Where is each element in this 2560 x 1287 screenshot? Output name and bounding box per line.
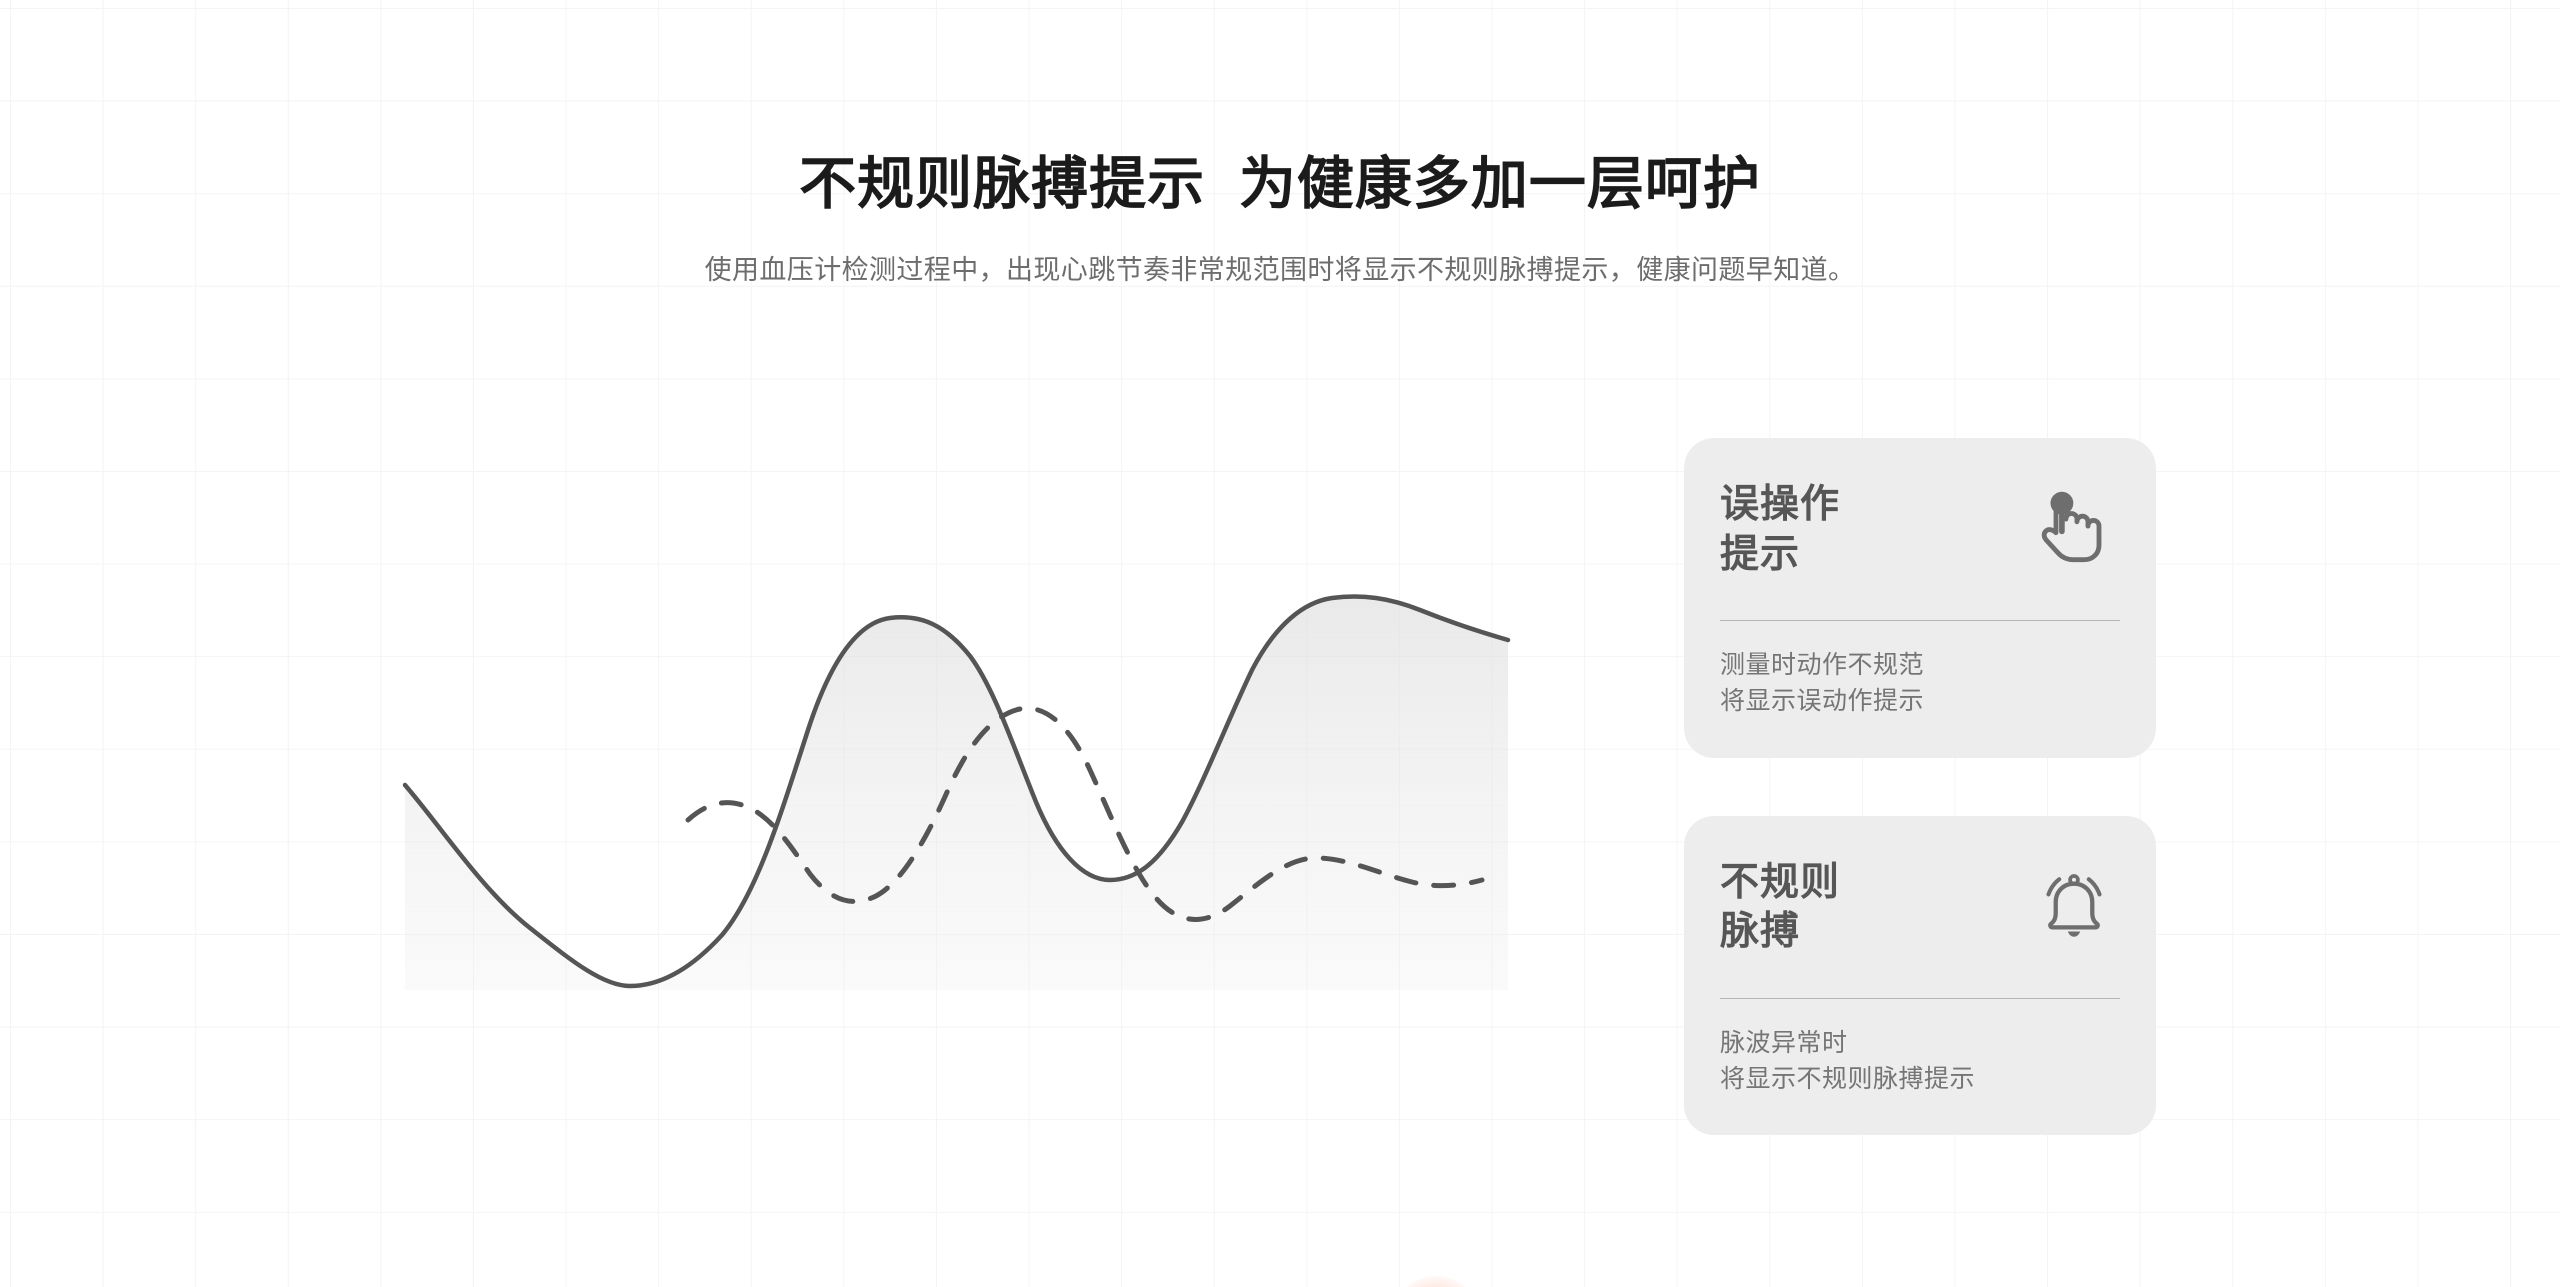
- bell-ringing-icon: [2028, 860, 2120, 952]
- page-root: 不规则脉搏提示 为健康多加一层呵护 使用血压计检测过程中，出现心跳节奏非常规范围…: [0, 0, 2560, 1287]
- card-wrong-operation[interactable]: 误操作 提示 测量时动作不规范 将显示误动作提示: [1684, 438, 2156, 758]
- page-title: 不规则脉搏提示 为健康多加一层呵护: [0, 150, 2560, 218]
- header: 不规则脉搏提示 为健康多加一层呵护 使用血压计检测过程中，出现心跳节奏非常规范围…: [0, 0, 2560, 290]
- hand-pointer-icon: [2028, 482, 2120, 574]
- pulse-waveform-chart: 错误操作 脉搏异常: [330, 430, 1620, 1210]
- hand-pointer-glyph: [2031, 485, 2117, 571]
- card-description: 测量时动作不规范 将显示误动作提示: [1720, 647, 2120, 720]
- bell-ringing-glyph: [2031, 863, 2117, 949]
- card-divider: [1720, 620, 2120, 621]
- card-title: 不规则 脉搏: [1720, 858, 1840, 958]
- card-title: 误操作 提示: [1720, 480, 1840, 580]
- marker-glow: [1390, 1276, 1482, 1287]
- card-header: 不规则 脉搏: [1720, 858, 2120, 988]
- card-header: 误操作 提示: [1720, 480, 2120, 610]
- page-subtitle: 使用血压计检测过程中，出现心跳节奏非常规范围时将显示不规则脉搏提示，健康问题早知…: [0, 252, 2560, 290]
- feature-cards: 误操作 提示 测量时动作不规范 将显示误动作提示 不规则 脉搏: [1684, 438, 2156, 1193]
- card-description: 脉波异常时 将显示不规则脉搏提示: [1720, 1025, 2120, 1098]
- card-divider: [1720, 998, 2120, 999]
- card-irregular-pulse[interactable]: 不规则 脉搏 脉波异常时 将显示不规则脉搏提示: [1684, 816, 2156, 1136]
- waveform-svg: [330, 430, 1620, 1210]
- waveform-area-fill: [405, 597, 1508, 991]
